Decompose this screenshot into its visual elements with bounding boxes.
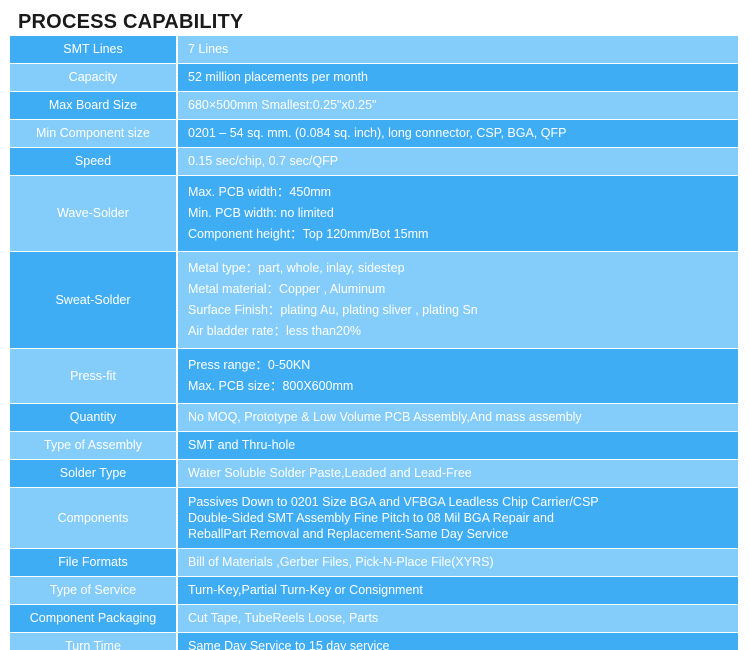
table-row: ComponentsPassives Down to 0201 Size BGA… bbox=[10, 488, 738, 549]
row-label: Speed bbox=[14, 154, 172, 169]
row-label-cell: Speed bbox=[10, 148, 178, 176]
row-value-cell: Press range：0-50KNMax. PCB size：800X600m… bbox=[178, 349, 738, 404]
table-row: Min Component size0201 – 54 sq. mm. (0.0… bbox=[10, 120, 738, 148]
row-value-line: SMT and Thru-hole bbox=[188, 438, 738, 453]
row-label: Quantity bbox=[14, 410, 172, 425]
process-capability-table: SMT Lines7 LinesCapacity52 million place… bbox=[10, 36, 738, 650]
row-value-cell: Same Day Service to 15 day service bbox=[178, 633, 738, 650]
row-label-cell: Turn Time bbox=[10, 633, 178, 650]
row-label: Min Component size bbox=[14, 126, 172, 141]
process-capability-page: PROCESS CAPABILITY SMT Lines7 LinesCapac… bbox=[0, 0, 750, 650]
row-label-cell: Components bbox=[10, 488, 178, 549]
row-value-cell: Max. PCB width：450mmMin. PCB width: no l… bbox=[178, 176, 738, 252]
row-value-line: Metal type：part, whole, inlay, sidestep bbox=[188, 258, 738, 279]
table-body: SMT Lines7 LinesCapacity52 million place… bbox=[10, 36, 738, 650]
row-value-cell: Passives Down to 0201 Size BGA and VFBGA… bbox=[178, 488, 738, 549]
table-row: Sweat-SolderMetal type：part, whole, inla… bbox=[10, 252, 738, 349]
row-value-cell: Bill of Materials ,Gerber Files, Pick-N-… bbox=[178, 549, 738, 577]
row-value-line: Double-Sided SMT Assembly Fine Pitch to … bbox=[188, 510, 738, 526]
row-value-line: Turn-Key,Partial Turn-Key or Consignment bbox=[188, 583, 738, 598]
row-label-cell: Component Packaging bbox=[10, 605, 178, 633]
row-value-cell: Cut Tape, TubeReels Loose, Parts bbox=[178, 605, 738, 633]
row-value-line: Max. PCB width：450mm bbox=[188, 182, 738, 203]
row-value-line: 0201 – 54 sq. mm. (0.084 sq. inch), long… bbox=[188, 126, 738, 141]
row-label-cell: File Formats bbox=[10, 549, 178, 577]
row-value-cell: 52 million placements per month bbox=[178, 64, 738, 92]
row-value-line: Same Day Service to 15 day service bbox=[188, 639, 738, 650]
row-value-line: 7 Lines bbox=[188, 42, 738, 57]
row-label: Component Packaging bbox=[14, 611, 172, 626]
row-value-line: Surface Finish：plating Au, plating slive… bbox=[188, 300, 738, 321]
row-value-cell: 0201 – 54 sq. mm. (0.084 sq. inch), long… bbox=[178, 120, 738, 148]
row-label: Components bbox=[14, 511, 172, 526]
table-row: Type of ServiceTurn-Key,Partial Turn-Key… bbox=[10, 577, 738, 605]
row-label-cell: Type of Service bbox=[10, 577, 178, 605]
row-value-cell: Water Soluble Solder Paste,Leaded and Le… bbox=[178, 460, 738, 488]
row-value-line: Metal material：Copper , Aluminum bbox=[188, 279, 738, 300]
row-value-cell: SMT and Thru-hole bbox=[178, 432, 738, 460]
row-value-cell: 0.15 sec/chip, 0.7 sec/QFP bbox=[178, 148, 738, 176]
table-row: SMT Lines7 Lines bbox=[10, 36, 738, 64]
row-label-cell: Press-fit bbox=[10, 349, 178, 404]
row-label: Type of Service bbox=[14, 583, 172, 598]
row-value-line: Air bladder rate：less than20% bbox=[188, 321, 738, 342]
row-value-line: ReballPart Removal and Replacement-Same … bbox=[188, 526, 738, 542]
row-value-line: Bill of Materials ,Gerber Files, Pick-N-… bbox=[188, 555, 738, 570]
row-label: SMT Lines bbox=[14, 42, 172, 57]
row-label-cell: Solder Type bbox=[10, 460, 178, 488]
table-row: Press-fitPress range：0-50KNMax. PCB size… bbox=[10, 349, 738, 404]
table-row: File FormatsBill of Materials ,Gerber Fi… bbox=[10, 549, 738, 577]
row-label-cell: Type of Assembly bbox=[10, 432, 178, 460]
table-row: Speed0.15 sec/chip, 0.7 sec/QFP bbox=[10, 148, 738, 176]
row-label-cell: Sweat-Solder bbox=[10, 252, 178, 349]
row-value-line: 680×500mm Smallest:0.25"x0.25" bbox=[188, 98, 738, 113]
table-row: QuantityNo MOQ, Prototype & Low Volume P… bbox=[10, 404, 738, 432]
row-label-cell: Capacity bbox=[10, 64, 178, 92]
row-label: Press-fit bbox=[14, 369, 172, 384]
row-value-line: Component height：Top 120mm/Bot 15mm bbox=[188, 224, 738, 245]
row-label: Capacity bbox=[14, 70, 172, 85]
table-row: Capacity52 million placements per month bbox=[10, 64, 738, 92]
row-value-cell: Turn-Key,Partial Turn-Key or Consignment bbox=[178, 577, 738, 605]
row-value-line: 0.15 sec/chip, 0.7 sec/QFP bbox=[188, 154, 738, 169]
row-label: Turn Time bbox=[14, 639, 172, 650]
row-label: Solder Type bbox=[14, 466, 172, 481]
row-value-line: Min. PCB width: no limited bbox=[188, 203, 738, 224]
row-label: Wave-Solder bbox=[14, 206, 172, 221]
table-row: Max Board Size680×500mm Smallest:0.25"x0… bbox=[10, 92, 738, 120]
row-label: Max Board Size bbox=[14, 98, 172, 113]
row-label-cell: Quantity bbox=[10, 404, 178, 432]
row-value-line: Passives Down to 0201 Size BGA and VFBGA… bbox=[188, 494, 738, 510]
table-row: Wave-SolderMax. PCB width：450mmMin. PCB … bbox=[10, 176, 738, 252]
row-label-cell: Max Board Size bbox=[10, 92, 178, 120]
row-label: Sweat-Solder bbox=[14, 293, 172, 308]
table-row: Turn TimeSame Day Service to 15 day serv… bbox=[10, 633, 738, 650]
row-label: Type of Assembly bbox=[14, 438, 172, 453]
page-title: PROCESS CAPABILITY bbox=[18, 10, 243, 34]
table-row: Solder TypeWater Soluble Solder Paste,Le… bbox=[10, 460, 738, 488]
row-value-line: Press range：0-50KN bbox=[188, 355, 738, 376]
row-label-cell: SMT Lines bbox=[10, 36, 178, 64]
row-label-cell: Wave-Solder bbox=[10, 176, 178, 252]
row-value-line: Water Soluble Solder Paste,Leaded and Le… bbox=[188, 466, 738, 481]
row-value-cell: Metal type：part, whole, inlay, sidestepM… bbox=[178, 252, 738, 349]
row-label: File Formats bbox=[14, 555, 172, 570]
row-value-line: 52 million placements per month bbox=[188, 70, 738, 85]
row-value-line: No MOQ, Prototype & Low Volume PCB Assem… bbox=[188, 410, 738, 425]
row-value-cell: No MOQ, Prototype & Low Volume PCB Assem… bbox=[178, 404, 738, 432]
row-value-cell: 680×500mm Smallest:0.25"x0.25" bbox=[178, 92, 738, 120]
row-value-line: Max. PCB size：800X600mm bbox=[188, 376, 738, 397]
row-value-line: Cut Tape, TubeReels Loose, Parts bbox=[188, 611, 738, 626]
table-row: Type of AssemblySMT and Thru-hole bbox=[10, 432, 738, 460]
row-label-cell: Min Component size bbox=[10, 120, 178, 148]
row-value-cell: 7 Lines bbox=[178, 36, 738, 64]
table-row: Component PackagingCut Tape, TubeReels L… bbox=[10, 605, 738, 633]
